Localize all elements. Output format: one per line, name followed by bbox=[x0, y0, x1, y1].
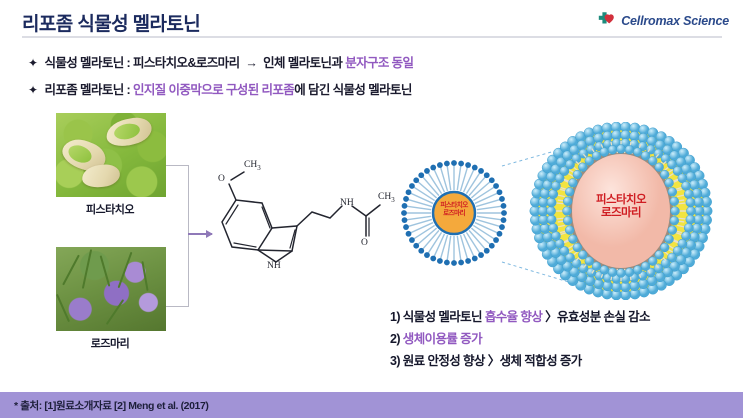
cross-heart-logo-icon bbox=[596, 11, 616, 30]
bullet-marker-icon: ✦ bbox=[28, 56, 37, 70]
benefit-highlight: 흡수율 향상 bbox=[485, 310, 542, 324]
slide-canvas: 리포좀 식물성 멜라토닌 Cellromax Science ✦ 식물성 멜라토… bbox=[0, 0, 743, 418]
brand-logo: Cellromax Science bbox=[596, 11, 729, 30]
page-title: 리포좀 식물성 멜라토닌 bbox=[22, 9, 200, 36]
benefit-seg: 1) 식물성 멜라토닌 bbox=[390, 310, 485, 324]
arrow-glyph-icon: → bbox=[242, 56, 260, 70]
bullet-item-1: ✦ 리포좀 멜라토닌 : 인지질 이중막으로 구성된 리포좀에 담긴 식물성 멜… bbox=[28, 79, 412, 98]
bullet-highlight: 인지질 이중막으로 구성된 리포좀 bbox=[133, 83, 294, 97]
bracket-connector bbox=[166, 165, 189, 307]
brand-name: Cellromax Science bbox=[621, 14, 729, 28]
molecule-label-o-carbonyl: O bbox=[361, 238, 368, 248]
rosemary-caption: 로즈마리 bbox=[54, 335, 166, 351]
bullet-item-0: ✦ 식물성 멜라토닌 : 피스타치오&로즈마리 → 인체 멜라토닌과 분자구조 … bbox=[28, 52, 413, 71]
bullet-seg: 식물성 멜라토닌 : 피스타치오&로즈마리 bbox=[44, 56, 242, 70]
large-liposome-cross-section: 피스타치오 로즈마리 bbox=[505, 122, 737, 300]
bullet-text-1: 리포좀 멜라토닌 : 인지질 이중막으로 구성된 리포좀에 담긴 식물성 멜라토… bbox=[44, 79, 411, 98]
benefit-item-3: 3) 원료 안정성 향상 〉생체 적합성 증가 bbox=[390, 350, 735, 372]
bullet-seg: 리포좀 멜라토닌 : bbox=[44, 83, 132, 97]
molecule-label-o-methoxy: O bbox=[218, 174, 225, 184]
molecule-label-nh-indole: NH bbox=[267, 261, 281, 271]
rosemary-photo bbox=[55, 246, 167, 332]
bullet-seg: 인체 멜라토닌과 bbox=[260, 56, 345, 70]
source-note: * 출처: [1]원료소개자료 [2] Meng et al. (2017) bbox=[14, 398, 209, 413]
pistachio-photo bbox=[55, 112, 167, 198]
benefits-list: 1) 식물성 멜라토닌 흡수율 향상 〉유효성분 손실 감소 2) 생체이용률 … bbox=[390, 306, 735, 372]
bullet-highlight: 분자구조 동일 bbox=[345, 56, 413, 70]
benefit-seg: 3) 원료 안정성 향상 〉생체 적합성 증가 bbox=[390, 354, 582, 368]
molecule-label-ch3-top: CH3 bbox=[244, 160, 261, 172]
benefit-item-2: 2) 생체이용률 증가 bbox=[390, 328, 735, 350]
molecule-label-ch3-right: CH3 bbox=[378, 192, 395, 204]
melatonin-structure: CH3 O NH CH3 O NH bbox=[200, 150, 390, 290]
benefit-highlight: 생체이용률 증가 bbox=[403, 332, 482, 346]
benefit-seg: 〉유효성분 손실 감소 bbox=[542, 310, 650, 324]
small-liposome: 피스타치오 로즈마리 bbox=[398, 157, 510, 269]
benefit-item-1: 1) 식물성 멜라토닌 흡수율 향상 〉유효성분 손실 감소 bbox=[390, 306, 735, 328]
bullet-marker-icon: ✦ bbox=[28, 83, 37, 97]
benefit-seg: 2) bbox=[390, 332, 403, 346]
bullet-seg: 에 담긴 식물성 멜라토닌 bbox=[294, 83, 412, 97]
title-divider bbox=[22, 36, 722, 38]
molecule-label-nh-amide: NH bbox=[340, 198, 354, 208]
footer-bar: * 출처: [1]원료소개자료 [2] Meng et al. (2017) bbox=[0, 392, 743, 418]
pistachio-caption: 피스타치오 bbox=[54, 201, 166, 217]
bullet-text-0: 식물성 멜라토닌 : 피스타치오&로즈마리 → 인체 멜라토닌과 분자구조 동일 bbox=[44, 52, 413, 71]
